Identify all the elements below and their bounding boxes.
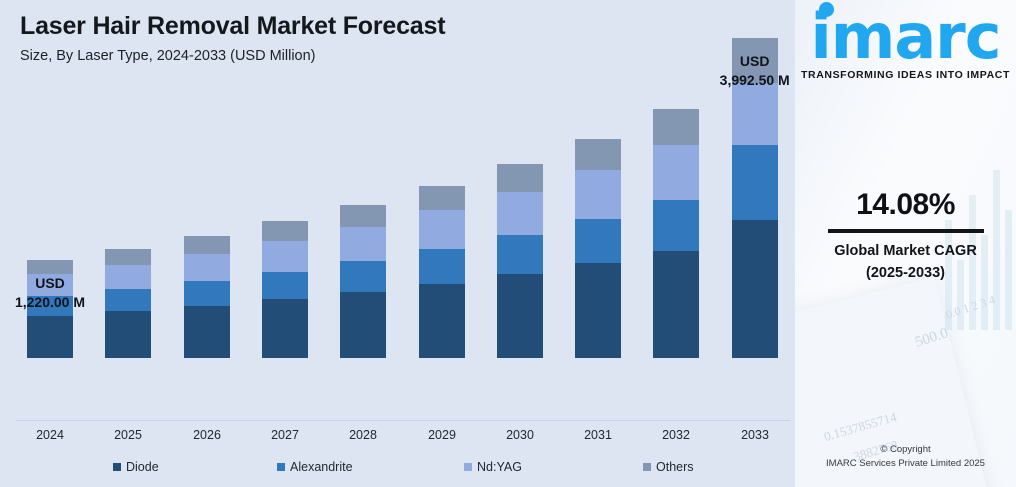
bar-segment-alexandrite-2030[interactable]: [497, 235, 543, 274]
x-axis-label-2026: 2026: [184, 428, 230, 442]
legend-item-others[interactable]: Others: [643, 460, 694, 474]
bar-segment-nd-yag-2032[interactable]: [653, 145, 699, 200]
cagr-divider: [828, 229, 984, 233]
legend-item-alexandrite[interactable]: Alexandrite: [277, 460, 353, 474]
x-axis-label-2027: 2027: [262, 428, 308, 442]
x-axis-label-2025: 2025: [105, 428, 151, 442]
legend-label: Nd:YAG: [477, 460, 522, 474]
bar-segment-alexandrite-2026[interactable]: [184, 281, 230, 306]
bar-segment-nd-yag-2026[interactable]: [184, 254, 230, 281]
bar-segment-diode-2031[interactable]: [575, 263, 621, 358]
legend-label: Diode: [126, 460, 159, 474]
bar-segment-others-2032[interactable]: [653, 109, 699, 144]
bar-segment-nd-yag-2030[interactable]: [497, 192, 543, 235]
bar-segment-others-2026[interactable]: [184, 236, 230, 254]
legend-swatch-icon: [113, 463, 121, 471]
bar-segment-alexandrite-2028[interactable]: [340, 261, 386, 292]
bar-segment-nd-yag-2028[interactable]: [340, 227, 386, 261]
bar-segment-diode-2033[interactable]: [732, 220, 778, 358]
legend-label: Alexandrite: [290, 460, 353, 474]
bar-segment-diode-2032[interactable]: [653, 251, 699, 358]
bar-group-2027[interactable]: [262, 221, 308, 358]
cagr-label-line2: (2025-2033): [795, 263, 1016, 285]
cagr-label-line1: Global Market CAGR: [795, 241, 1016, 263]
bar-segment-others-2024[interactable]: [27, 260, 73, 274]
stacked-bar-chart: 2024202520262027202820292030203120322033: [0, 0, 795, 425]
value-callout-first: USD 1,220.00 M: [0, 274, 120, 311]
callout-first-line1: USD: [0, 274, 120, 293]
bar-segment-diode-2029[interactable]: [419, 284, 465, 358]
x-axis-label-2024: 2024: [27, 428, 73, 442]
bar-segment-others-2027[interactable]: [262, 221, 308, 241]
copyright-line2: IMARC Services Private Limited 2025: [795, 457, 1016, 471]
x-axis-label-2028: 2028: [340, 428, 386, 442]
bar-group-2030[interactable]: [497, 164, 543, 358]
bar-group-2029[interactable]: [419, 186, 465, 358]
x-axis-label-2030: 2030: [497, 428, 543, 442]
bar-segment-alexandrite-2032[interactable]: [653, 200, 699, 251]
bar-group-2032[interactable]: [653, 109, 699, 358]
bar-segment-diode-2027[interactable]: [262, 299, 308, 358]
chart-legend: DiodeAlexandriteNd:YAGOthers: [0, 452, 795, 482]
imarc-wordmark-text: imarc: [810, 0, 1000, 73]
bar-segment-others-2029[interactable]: [419, 186, 465, 211]
bar-segment-others-2031[interactable]: [575, 139, 621, 170]
brand-panel: 0.1537855714 3882768 500.0 0.0 1 2 3 4 i…: [795, 0, 1016, 487]
callout-first-line2: 1,220.00 M: [0, 293, 120, 312]
imarc-logo: imarc TRANSFORMING IDEAS INTO IMPACT: [795, 8, 1016, 81]
bar-segment-others-2025[interactable]: [105, 249, 151, 265]
bar-segment-alexandrite-2029[interactable]: [419, 249, 465, 284]
imarc-wordmark: imarc: [810, 8, 1000, 67]
bar-segment-alexandrite-2031[interactable]: [575, 219, 621, 264]
bar-segment-nd-yag-2031[interactable]: [575, 170, 621, 219]
legend-item-nd-yag[interactable]: Nd:YAG: [464, 460, 522, 474]
bar-segment-nd-yag-2027[interactable]: [262, 241, 308, 272]
legend-swatch-icon: [464, 463, 472, 471]
bar-segment-nd-yag-2033[interactable]: [732, 83, 778, 145]
bar-segment-diode-2024[interactable]: [27, 316, 73, 358]
legend-swatch-icon: [277, 463, 285, 471]
bar-segment-nd-yag-2029[interactable]: [419, 210, 465, 249]
x-axis-label-2033: 2033: [732, 428, 778, 442]
copyright-line1: © Copyright: [795, 443, 1016, 457]
x-axis-label-2032: 2032: [653, 428, 699, 442]
cagr-block: 14.08% Global Market CAGR (2025-2033): [795, 188, 1016, 285]
bar-segment-alexandrite-2033[interactable]: [732, 145, 778, 220]
cagr-value: 14.08%: [795, 188, 1016, 222]
copyright-notice: © Copyright IMARC Services Private Limit…: [795, 443, 1016, 472]
legend-swatch-icon: [643, 463, 651, 471]
bar-segment-diode-2025[interactable]: [105, 311, 151, 358]
bar-group-2026[interactable]: [184, 236, 230, 358]
legend-item-diode[interactable]: Diode: [113, 460, 159, 474]
bar-segment-diode-2026[interactable]: [184, 306, 230, 358]
legend-label: Others: [656, 460, 694, 474]
bar-group-2028[interactable]: [340, 205, 386, 358]
bar-segment-others-2030[interactable]: [497, 164, 543, 192]
bar-segment-alexandrite-2027[interactable]: [262, 272, 308, 300]
bar-segment-diode-2028[interactable]: [340, 292, 386, 358]
x-axis-label-2029: 2029: [419, 428, 465, 442]
bar-group-2031[interactable]: [575, 139, 621, 358]
chart-infographic: Laser Hair Removal Market Forecast Size,…: [0, 0, 1016, 487]
bar-segment-diode-2030[interactable]: [497, 274, 543, 358]
x-axis-label-2031: 2031: [575, 428, 621, 442]
bar-segment-others-2028[interactable]: [340, 205, 386, 227]
chart-panel: Laser Hair Removal Market Forecast Size,…: [0, 0, 795, 487]
x-axis-line: [16, 420, 790, 421]
